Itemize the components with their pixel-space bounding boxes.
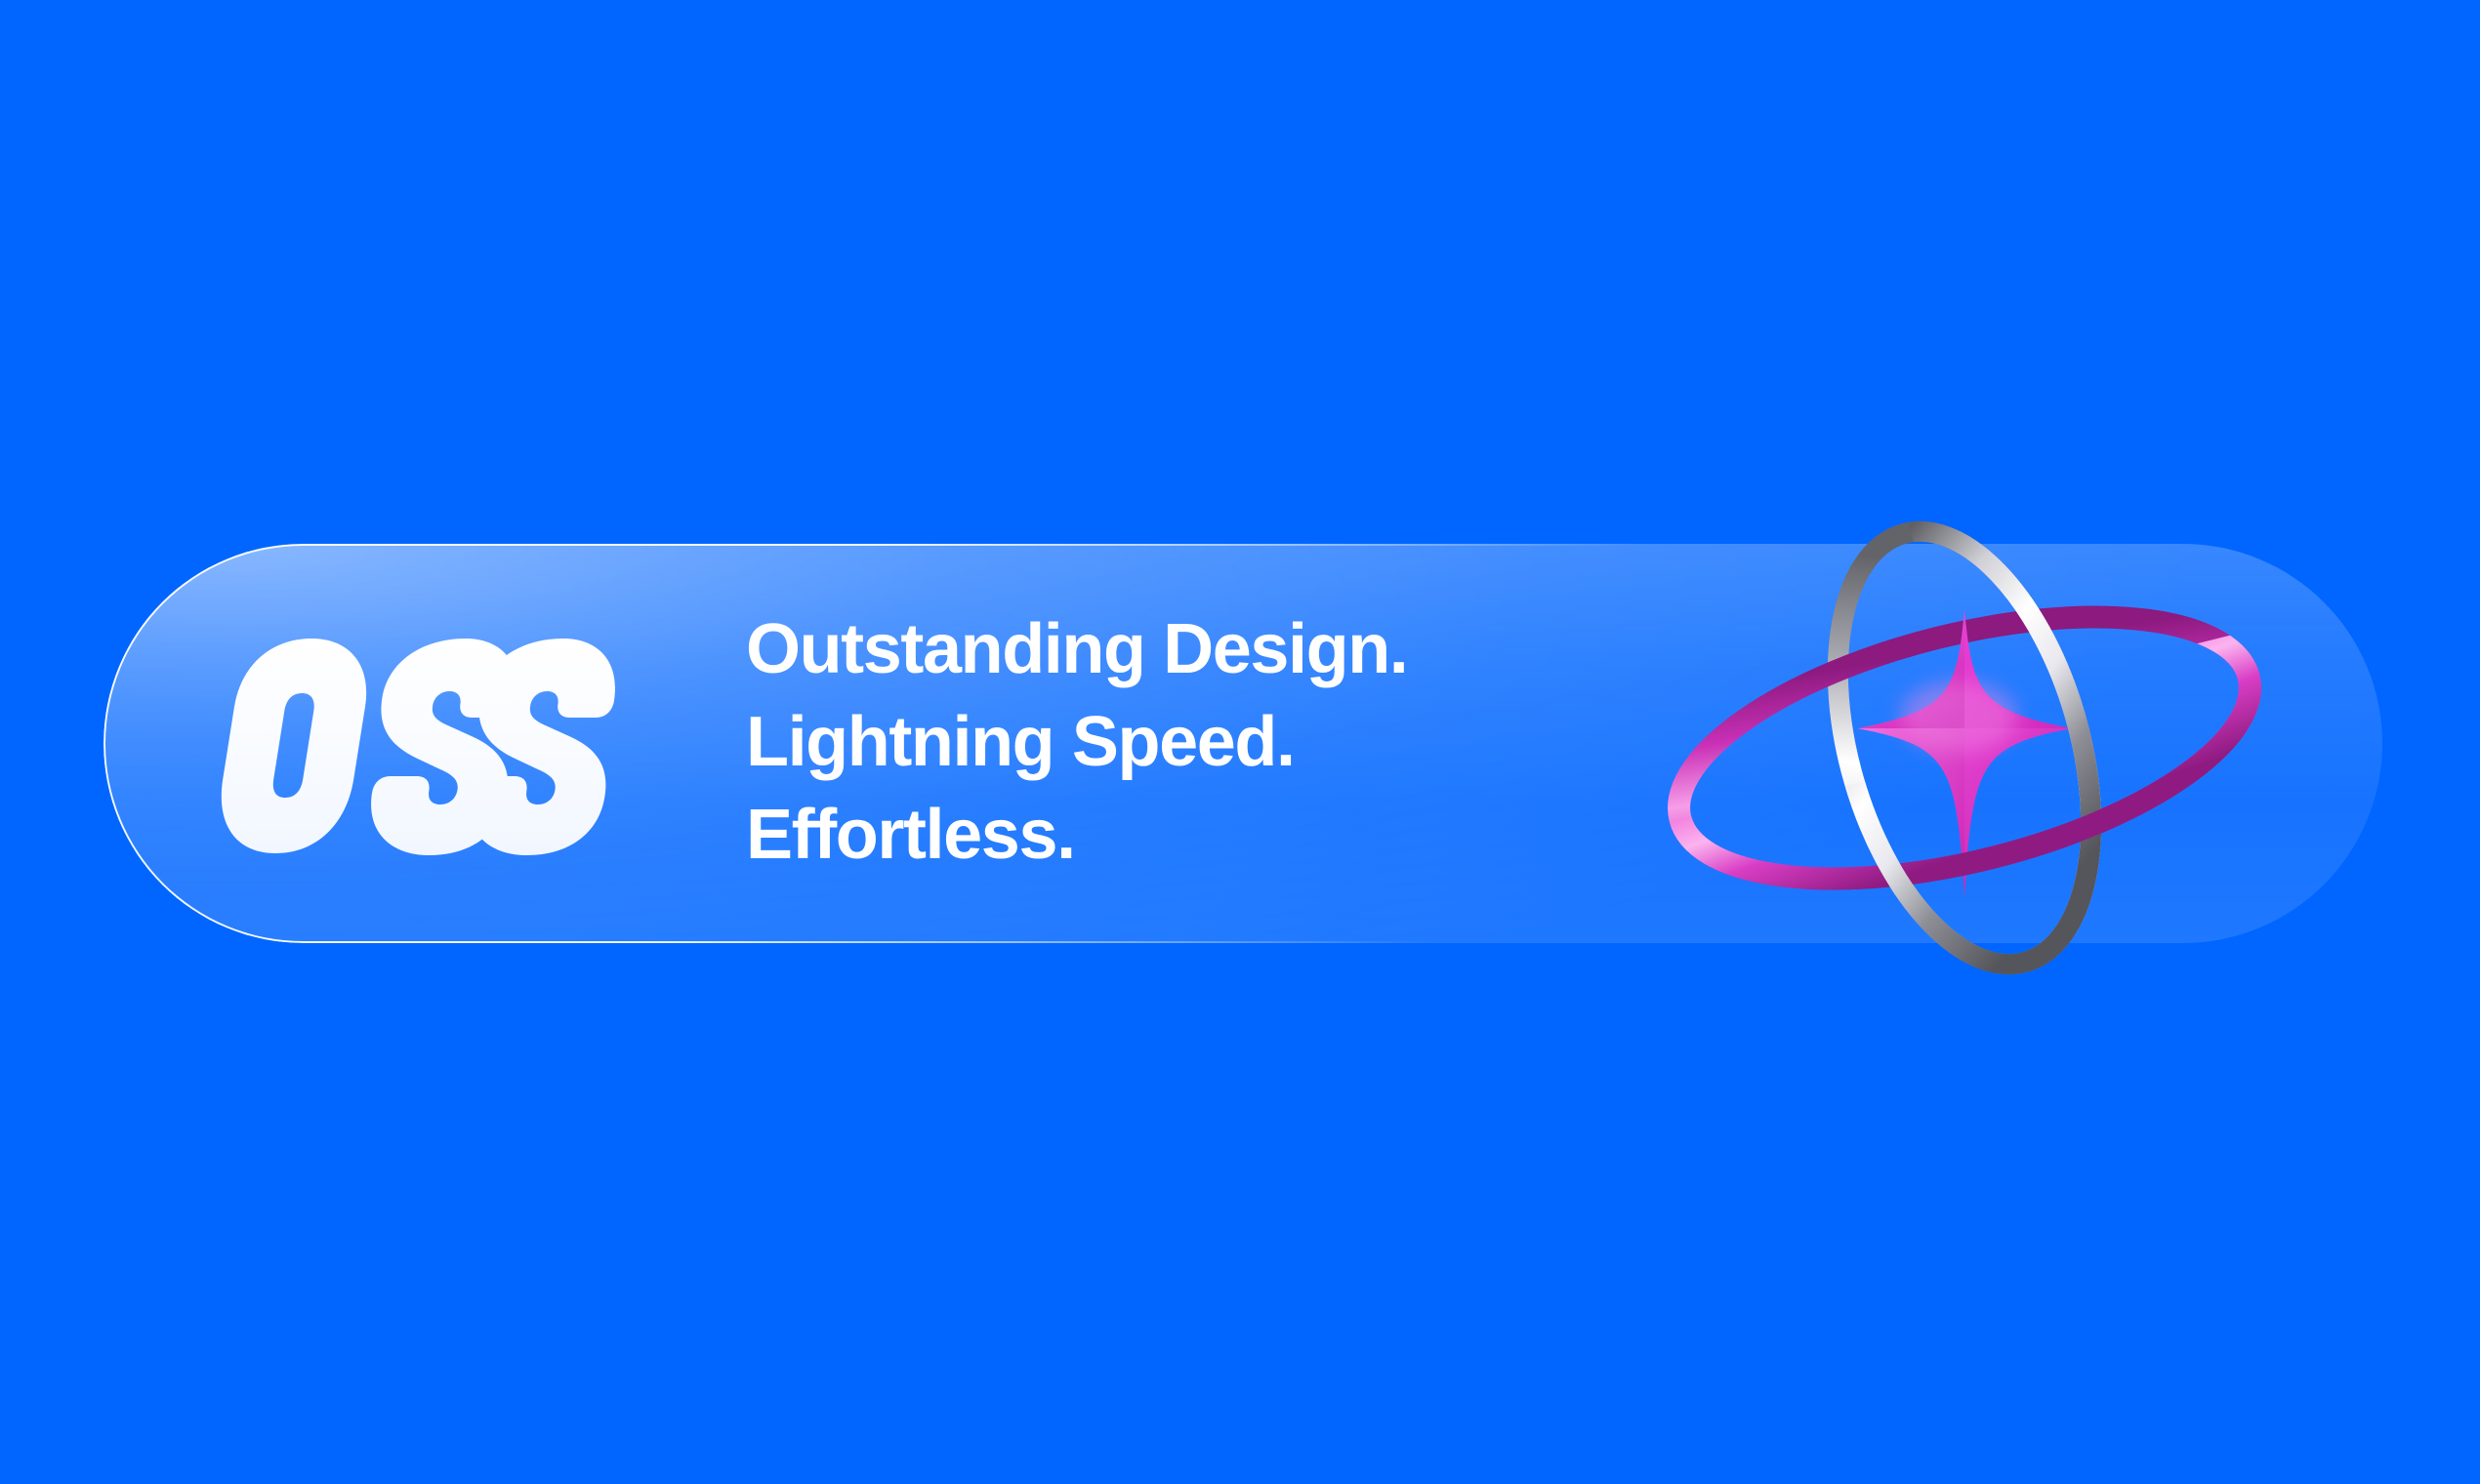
- banner-stage: OSS Outstanding Design. Lightning Speed.…: [0, 0, 2480, 1484]
- headline-line-1: Outstanding Design.: [746, 603, 1722, 696]
- headline-line-2: Lightning Speed.: [746, 696, 1722, 789]
- headline: Outstanding Design. Lightning Speed. Eff…: [746, 603, 1722, 882]
- headline-line-3: Effortless.: [746, 789, 1722, 882]
- oss-wordmark-icon: [246, 633, 666, 867]
- oss-logo[interactable]: OSS: [246, 633, 666, 867]
